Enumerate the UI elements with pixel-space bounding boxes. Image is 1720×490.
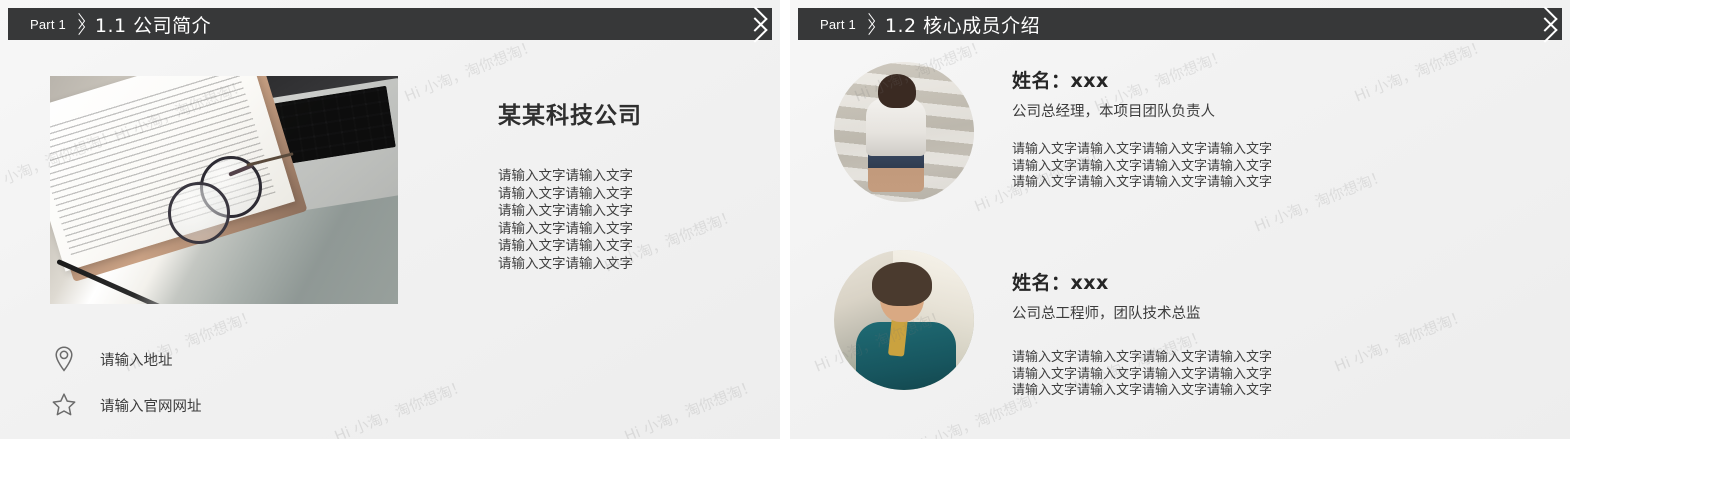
description-line: 请输入文字请输入文字: [498, 256, 760, 274]
watermark-text: Hi 小淘，淘你想淘！: [1351, 35, 1489, 107]
description-line: 请输入文字请输入文字请输入文字请输入文字: [1012, 383, 1272, 400]
avatar-hair-shape: [872, 262, 932, 306]
slide1-header-bar: Part 1 1.1 公司简介: [8, 8, 772, 40]
chevron-right-large-icon: [742, 8, 776, 40]
description-line: 请输入文字请输入文字: [498, 203, 760, 221]
star-outline-icon: [50, 390, 78, 420]
avatar: [834, 62, 974, 202]
watermark-text: Hi 小淘，淘你想淘！: [1331, 305, 1469, 377]
eyeglass-lens-right: [168, 182, 230, 244]
watermark-text: Hi 小淘，淘你想淘！: [331, 375, 469, 439]
description-line: 请输入文字请输入文字: [498, 238, 760, 256]
member-role: 公司总工程师，团队技术总监: [1012, 302, 1201, 323]
description-line: 请输入文字请输入文字请输入文字请输入文字: [1012, 367, 1272, 384]
avatar-hair-shape: [878, 74, 916, 108]
company-name: 某某科技公司: [498, 96, 758, 130]
slide2-header-bar: Part 1 1.2 核心成员介绍: [798, 8, 1562, 40]
address-label: 请输入地址: [100, 349, 173, 370]
chevron-right-small-icon: [73, 13, 89, 35]
avatar: [834, 250, 974, 390]
member-description: 请输入文字请输入文字请输入文字请输入文字 请输入文字请输入文字请输入文字请输入文…: [1012, 350, 1272, 400]
slide-core-members: Part 1 1.2 核心成员介绍 姓名：xxx 公司总经理，本项目团队负责人 …: [790, 0, 1570, 439]
member-name: 姓名：xxx: [1012, 268, 1109, 295]
chevron-right-small-icon: [863, 13, 879, 35]
description-line: 请输入文字请输入文字请输入文字请输入文字: [1012, 175, 1272, 192]
chevron-right-large-icon: [1532, 8, 1566, 40]
description-line: 请输入文字请输入文字: [498, 168, 760, 186]
slide-company-intro: Part 1 1.1 公司简介 某某科技公司 请输入文字请输入文字 请输入文字请…: [0, 0, 780, 439]
member-description: 请输入文字请输入文字请输入文字请输入文字 请输入文字请输入文字请输入文字请输入文…: [1012, 142, 1272, 192]
address-row: 请输入地址: [50, 344, 173, 374]
description-line: 请输入文字请输入文字: [498, 221, 760, 239]
slide2-part-label: Part 1: [798, 17, 856, 32]
member-role: 公司总经理，本项目团队负责人: [1012, 100, 1215, 121]
website-label: 请输入官网网址: [100, 395, 202, 416]
description-line: 请输入文字请输入文字请输入文字请输入文字: [1012, 142, 1272, 159]
watermark-text: Hi 小淘，淘你想淘！: [621, 375, 759, 439]
company-description: 请输入文字请输入文字 请输入文字请输入文字 请输入文字请输入文字 请输入文字请输…: [498, 168, 760, 273]
slide1-part-label: Part 1: [8, 17, 66, 32]
description-line: 请输入文字请输入文字请输入文字请输入文字: [1012, 350, 1272, 367]
slide-divider: [780, 0, 790, 490]
member-name: 姓名：xxx: [1012, 66, 1109, 93]
slides-stage: Part 1 1.1 公司简介 某某科技公司 请输入文字请输入文字 请输入文字请…: [0, 0, 1720, 490]
company-photo: [50, 76, 398, 304]
website-row: 请输入官网网址: [50, 390, 202, 420]
description-line: 请输入文字请输入文字: [498, 186, 760, 204]
location-pin-icon: [50, 344, 78, 374]
slide1-title: 1.1 公司简介: [95, 11, 211, 38]
description-line: 请输入文字请输入文字请输入文字请输入文字: [1012, 159, 1272, 176]
slide2-title: 1.2 核心成员介绍: [885, 11, 1040, 38]
